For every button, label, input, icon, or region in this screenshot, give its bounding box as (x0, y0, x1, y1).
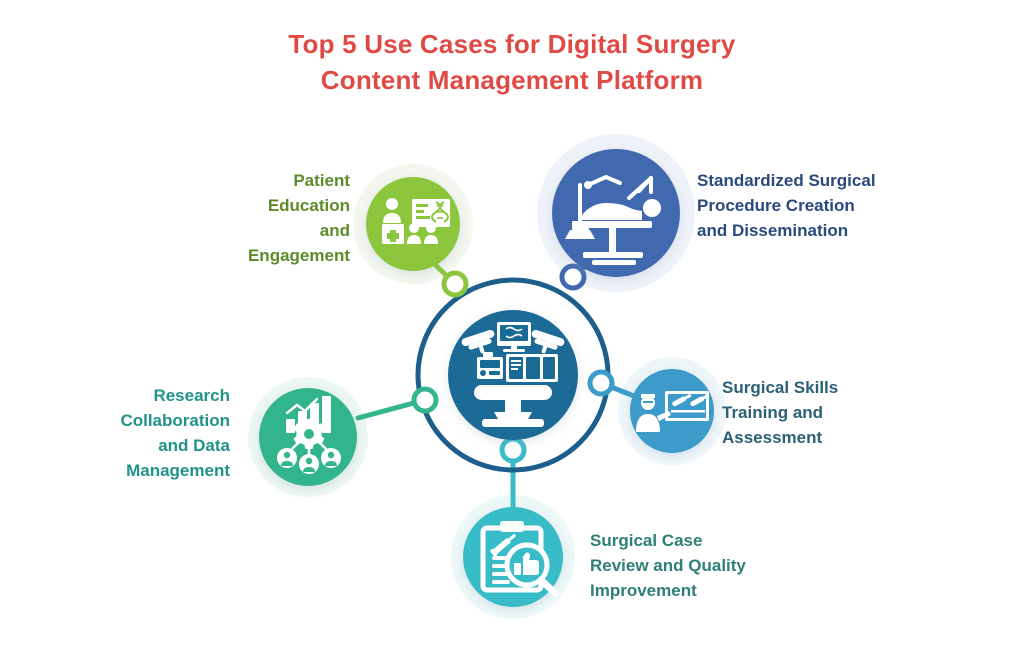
branch-standardized-procedure[interactable] (552, 149, 680, 277)
hub-node-surgical-skills (590, 372, 612, 394)
center-hub[interactable] (448, 310, 578, 440)
hub-node-standardized (562, 266, 584, 288)
branch-surgical-skills[interactable] (630, 369, 714, 453)
label-surgical-skills-training: Surgical Skills Training and Assessment (722, 375, 922, 450)
radial-diagram (0, 0, 1024, 649)
hub-node-research (414, 389, 436, 411)
label-patient-education: Patient Education and Engagement (180, 168, 350, 268)
hub-node-case-review (502, 439, 524, 461)
hub-node-patient-education (444, 273, 466, 295)
infographic-canvas: Top 5 Use Cases for Digital Surgery Cont… (0, 0, 1024, 649)
branch-research-collaboration[interactable] (259, 388, 357, 486)
label-research-collaboration: Research Collaboration and Data Manageme… (60, 383, 230, 483)
branch-case-review[interactable] (463, 507, 563, 607)
label-case-review-quality: Surgical Case Review and Quality Improve… (590, 528, 800, 603)
label-standardized-procedure: Standardized Surgical Procedure Creation… (697, 168, 947, 243)
branch-patient-education[interactable] (366, 177, 460, 271)
